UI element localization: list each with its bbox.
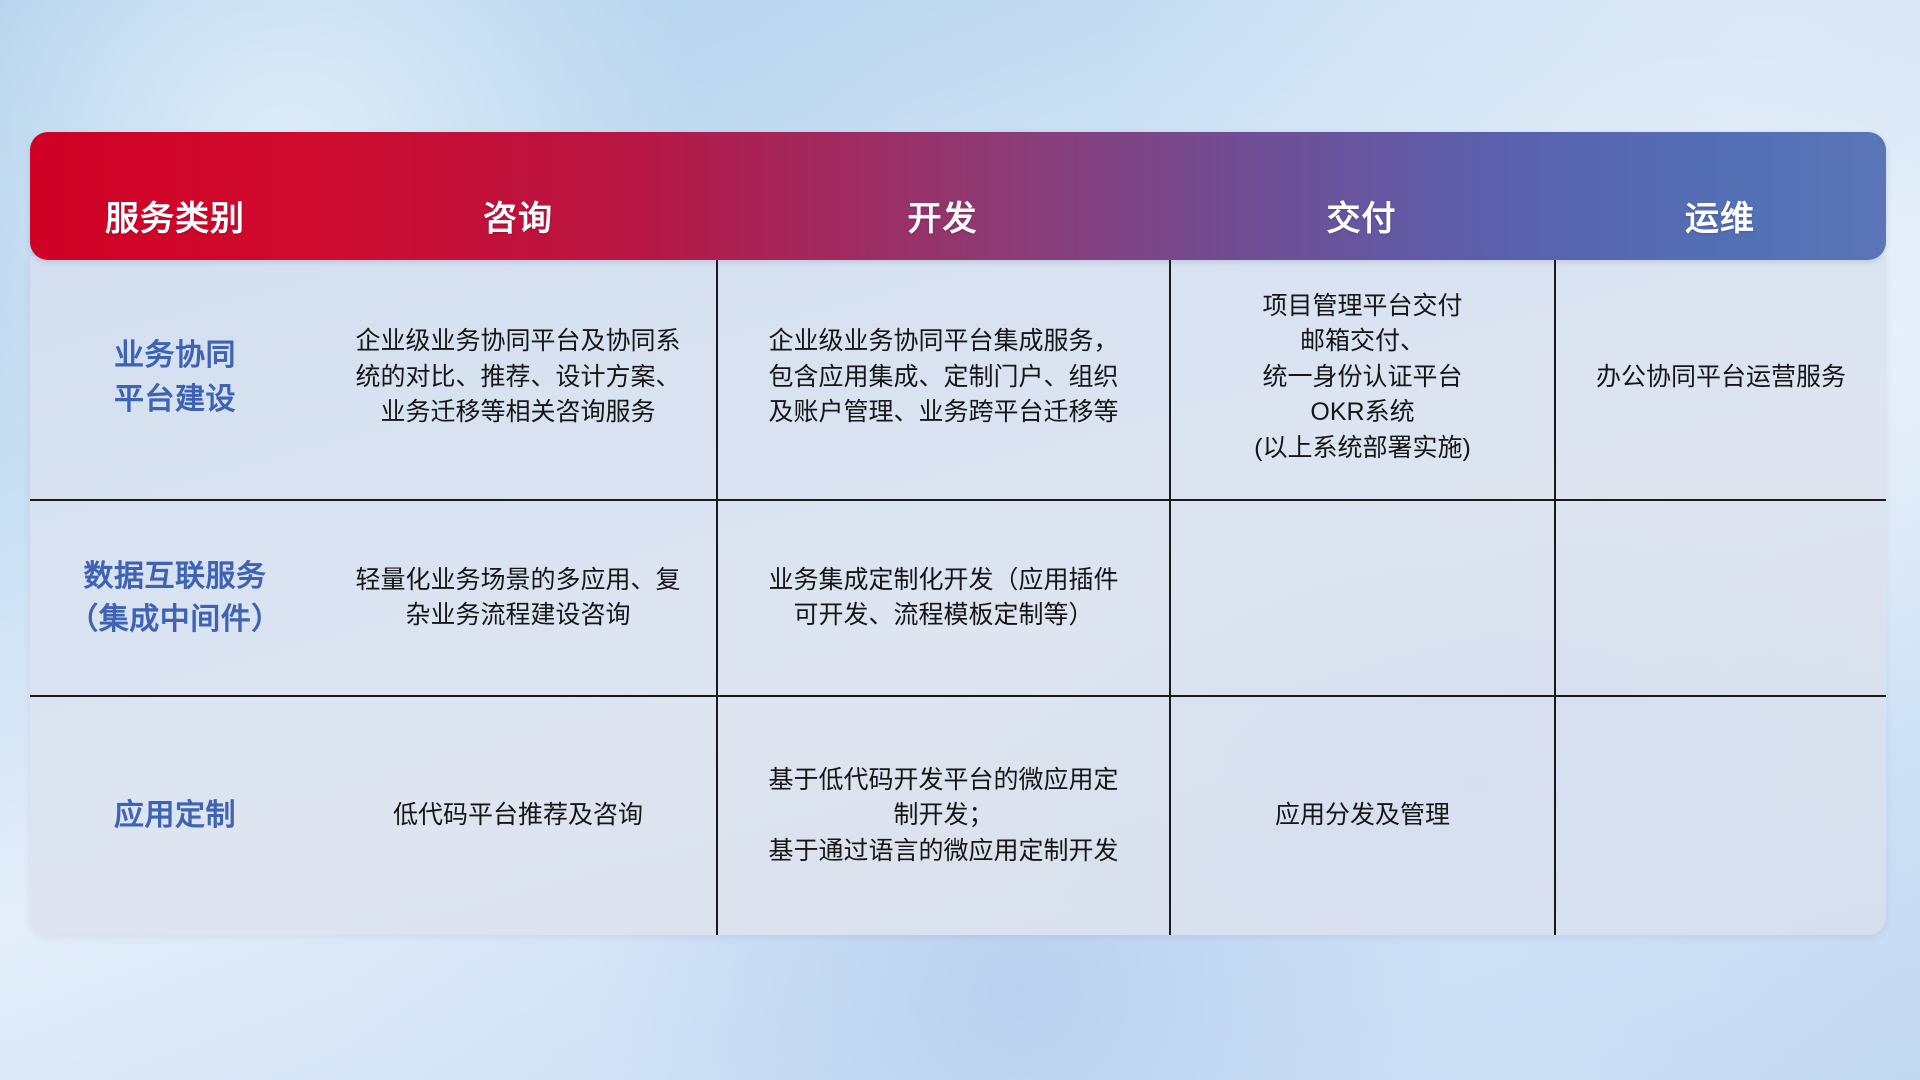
row-2-development-cell: 业务集成定制化开发（应用插件 可开发、流程模板定制等） xyxy=(716,501,1169,695)
slide-canvas: 服务类别 咨询 开发 交付 运维 业务协同 平台建设 企业级业务协同平台及协同系… xyxy=(0,0,1920,1080)
table-header-row: 服务类别 咨询 开发 交付 运维 xyxy=(30,132,1886,260)
row-3-delivery-cell: 应用分发及管理 xyxy=(1169,697,1554,935)
table-row: 业务协同 平台建设 企业级业务协同平台及协同系 统的对比、推荐、设计方案、 业务… xyxy=(30,256,1886,499)
column-header-delivery: 交付 xyxy=(1169,132,1554,260)
row-3-operations-cell xyxy=(1554,697,1886,935)
row-2-consulting-cell: 轻量化业务场景的多应用、复 杂业务流程建设咨询 xyxy=(320,501,716,695)
row-1-category-label: 业务协同 平台建设 xyxy=(30,256,320,499)
table-body: 业务协同 平台建设 企业级业务协同平台及协同系 统的对比、推荐、设计方案、 业务… xyxy=(30,256,1886,935)
row-2-delivery-cell xyxy=(1169,501,1554,695)
row-1-delivery-cell: 项目管理平台交付 邮箱交付、 统一身份认证平台 OKR系统 (以上系统部署实施) xyxy=(1169,256,1554,499)
column-header-category: 服务类别 xyxy=(30,132,320,260)
column-header-consulting: 咨询 xyxy=(320,132,716,260)
row-3-development-cell: 基于低代码开发平台的微应用定 制开发； 基于通过语言的微应用定制开发 xyxy=(716,697,1169,935)
service-matrix-table: 服务类别 咨询 开发 交付 运维 业务协同 平台建设 企业级业务协同平台及协同系… xyxy=(30,132,1886,935)
table-row: 应用定制 低代码平台推荐及咨询 基于低代码开发平台的微应用定 制开发； 基于通过… xyxy=(30,695,1886,935)
column-header-development: 开发 xyxy=(716,132,1169,260)
row-2-operations-cell xyxy=(1554,501,1886,695)
column-header-operations: 运维 xyxy=(1554,132,1886,260)
row-3-category-label: 应用定制 xyxy=(30,697,320,935)
row-3-consulting-cell: 低代码平台推荐及咨询 xyxy=(320,697,716,935)
row-2-category-label: 数据互联服务 （集成中间件） xyxy=(30,501,320,695)
row-1-operations-cell: 办公协同平台运营服务 xyxy=(1554,256,1886,499)
table-row: 数据互联服务 （集成中间件） 轻量化业务场景的多应用、复 杂业务流程建设咨询 业… xyxy=(30,499,1886,695)
row-1-consulting-cell: 企业级业务协同平台及协同系 统的对比、推荐、设计方案、 业务迁移等相关咨询服务 xyxy=(320,256,716,499)
row-1-development-cell: 企业级业务协同平台集成服务， 包含应用集成、定制门户、组织 及账户管理、业务跨平… xyxy=(716,256,1169,499)
